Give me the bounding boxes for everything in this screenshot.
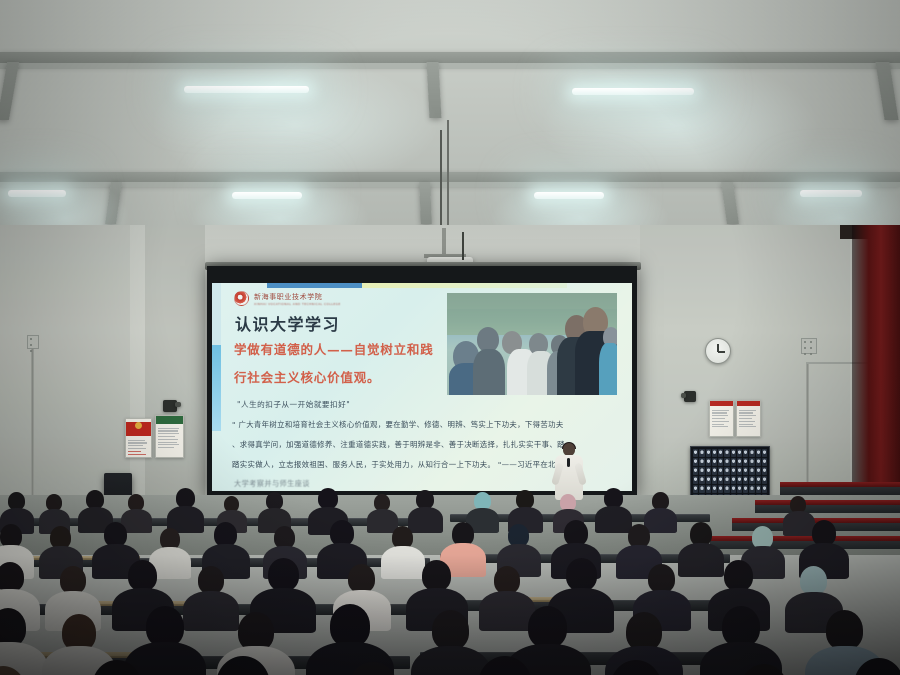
wall-switch-panel-right[interactable] xyxy=(801,338,817,354)
slide-quote: "人生的扣子从一开始就要扣好" xyxy=(237,399,350,410)
college-logo: 新海事职业技术学院 XINHAI VOCATIONAL AND TECHNICA… xyxy=(234,291,341,306)
fluorescent-tube-4 xyxy=(232,192,302,199)
microphone xyxy=(567,458,570,467)
logo-subtitle: XINHAI VOCATIONAL AND TECHNICAL COLLEGE xyxy=(254,302,341,306)
hanging-cable xyxy=(447,120,449,230)
logo-name: 新海事职业技术学院 xyxy=(254,292,341,302)
slide-blue-accent-bar xyxy=(267,283,362,288)
ceiling xyxy=(0,0,900,232)
fluorescent-tube-5 xyxy=(534,192,604,199)
fluorescent-tube-1 xyxy=(184,86,309,93)
fire-safety-poster xyxy=(125,418,152,458)
wall-clock xyxy=(705,338,731,364)
wall-speaker-right-bracket xyxy=(681,393,686,398)
ceiling-light-glow xyxy=(540,60,820,190)
slide-title: 认识大学学习 xyxy=(235,311,340,335)
wall-switch-panel-left[interactable] xyxy=(27,335,39,349)
fluorescent-tube-3 xyxy=(8,190,66,197)
fluorescent-tube-6 xyxy=(800,190,862,197)
slide-left-accent-bar xyxy=(212,345,221,431)
classroom-rules-poster-2 xyxy=(736,400,761,437)
ceiling-light-glow xyxy=(150,60,440,190)
slide-body-line-1: " 广大青年树立和培育社会主义核心价值观，要在勤学、修德、明辨、笃实上下功夫，下… xyxy=(232,419,617,430)
fluorescent-tube-2 xyxy=(572,88,694,95)
evacuation-notice xyxy=(155,415,184,458)
hanging-cable xyxy=(440,130,442,230)
classroom-rules-poster-1 xyxy=(709,400,734,437)
foreground-shadow xyxy=(0,555,900,675)
slide-photograph xyxy=(447,293,617,395)
lecture-hall-scene: 新海事职业技术学院 XINHAI VOCATIONAL AND TECHNICA… xyxy=(0,0,900,675)
logo-spiral-icon xyxy=(234,291,249,306)
slide-left-accent-top xyxy=(212,283,221,345)
wall-speaker-left-bracket xyxy=(175,402,181,407)
slide-yellow-accent-bar xyxy=(362,283,567,288)
